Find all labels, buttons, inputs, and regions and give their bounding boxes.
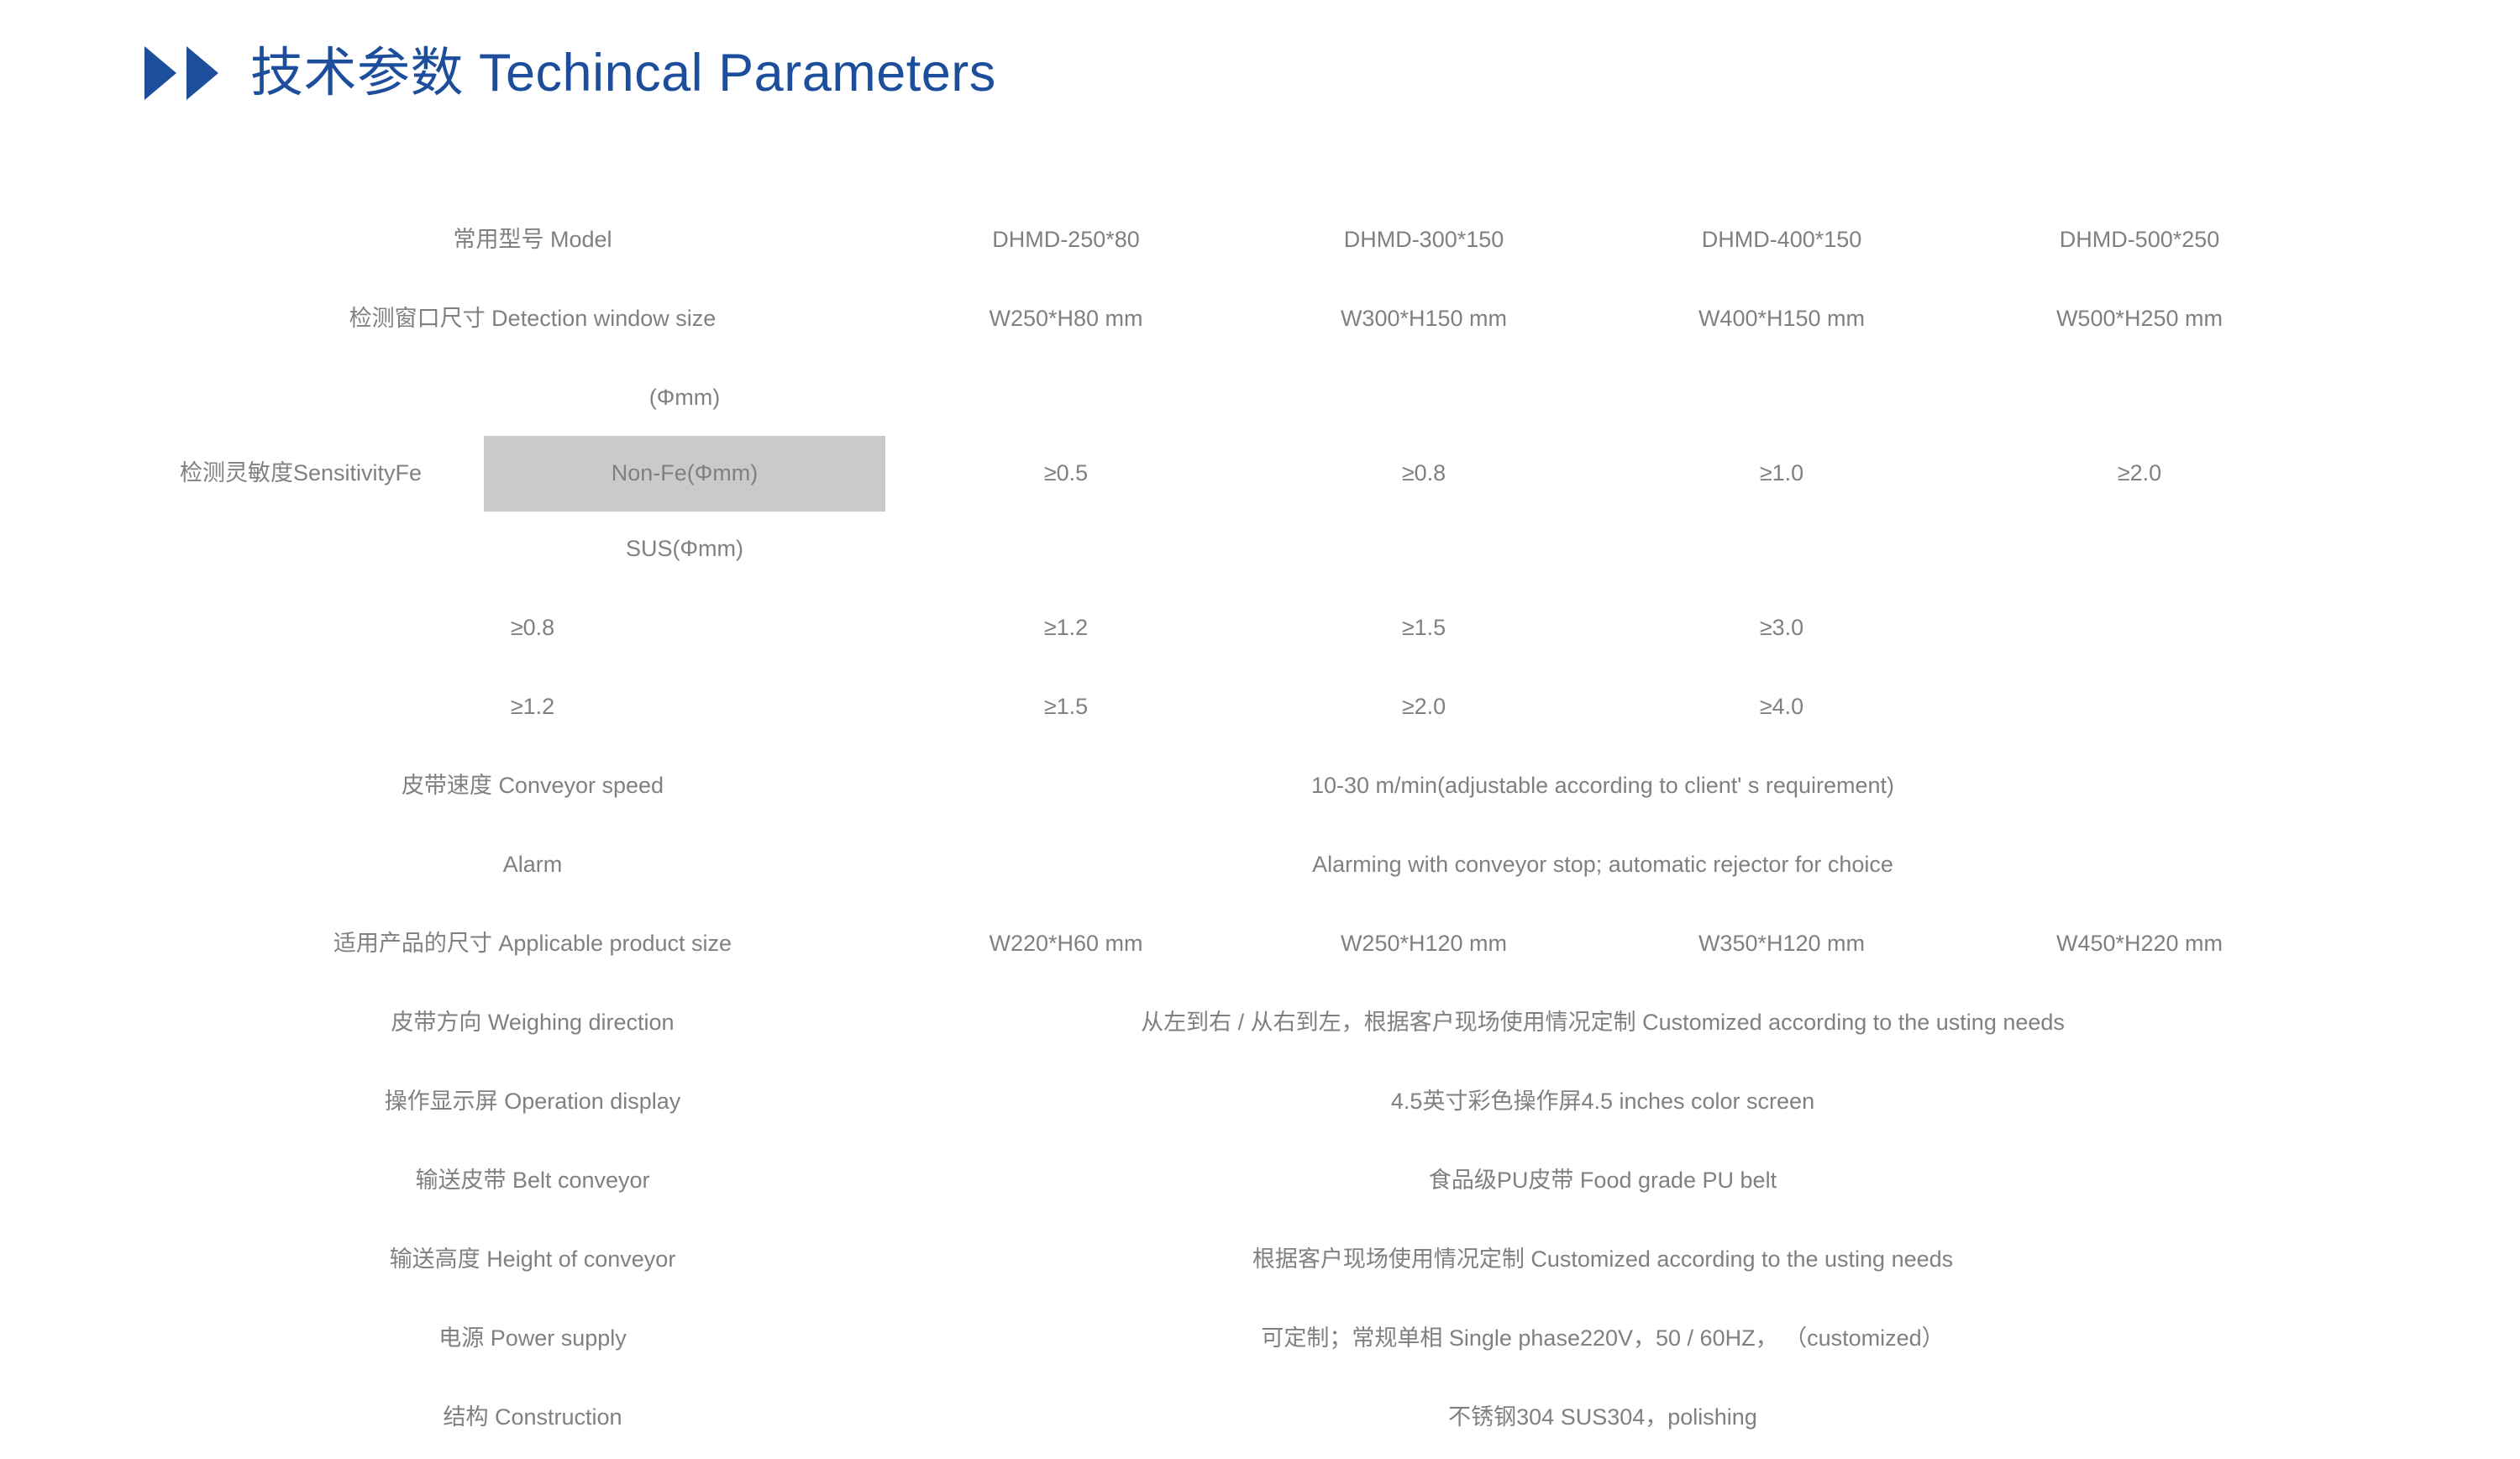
cell-detection-window-size-1: W250*H80 mm bbox=[889, 281, 1243, 357]
table-row: ≥1.2 ≥1.5 ≥2.0 ≥4.0 bbox=[180, 669, 2317, 745]
table-row: 检测灵敏度SensitivityFe (Φmm) Non-Fe(Φmm) SUS… bbox=[180, 360, 2317, 587]
table-row: 电源 Power supply 可定制；常规单相 Single phase220… bbox=[180, 1301, 2317, 1377]
table-row: 皮带方向 Weighing direction 从左到右 / 从右到左，根据客户… bbox=[180, 985, 2317, 1061]
table-row: 输送高度 Height of conveyor 根据客户现场使用情况定制 Cus… bbox=[180, 1222, 2317, 1298]
table-row: ≥0.8 ≥1.2 ≥1.5 ≥3.0 bbox=[180, 590, 2317, 666]
row-label-applicable-product-size: 适用产品的尺寸 Applicable product size bbox=[180, 906, 885, 982]
technical-parameters-table: 常用型号 Model DHMD-250*80 DHMD-300*150 DHMD… bbox=[176, 199, 2320, 1459]
table-header-row: 常用型号 Model DHMD-250*80 DHMD-300*150 DHMD… bbox=[180, 202, 2317, 278]
header-label-cell: 常用型号 Model bbox=[180, 202, 885, 278]
cell-operation-display-value: 4.5英寸彩色操作屏4.5 inches color screen bbox=[889, 1064, 2317, 1140]
cell-applicable-product-size-4: W450*H220 mm bbox=[1962, 906, 2317, 982]
cell-sensitivity-non-fe-2: ≥1.2 bbox=[889, 590, 1243, 666]
title-arrows bbox=[144, 46, 218, 100]
sensitivity-sublabel-non-fe: Non-Fe(Φmm) bbox=[484, 436, 885, 512]
row-label-power-supply: 电源 Power supply bbox=[180, 1301, 885, 1377]
cell-detection-window-size-4: W500*H250 mm bbox=[1962, 281, 2317, 357]
cell-sensitivity-sus-1: ≥1.2 bbox=[180, 669, 885, 745]
cell-sensitivity-non-fe-4: ≥3.0 bbox=[1604, 590, 1959, 666]
cell-applicable-product-size-2: W250*H120 mm bbox=[1247, 906, 1601, 982]
row-label-construction: 结构 Construction bbox=[180, 1380, 885, 1456]
header-model-2: DHMD-300*150 bbox=[1247, 202, 1601, 278]
header-model-3: DHMD-400*150 bbox=[1604, 202, 1959, 278]
cell-applicable-product-size-3: W350*H120 mm bbox=[1604, 906, 1959, 982]
cell-detection-window-size-2: W300*H150 mm bbox=[1247, 281, 1601, 357]
cell-sensitivity-sus-2: ≥1.5 bbox=[889, 669, 1243, 745]
row-label-height-of-conveyor: 输送高度 Height of conveyor bbox=[180, 1222, 885, 1298]
sensitivity-group-label: 检测灵敏度SensitivityFe bbox=[180, 360, 484, 587]
sensitivity-sublabel-sus: SUS(Φmm) bbox=[484, 512, 885, 587]
row-label-detection-window-size: 检测窗口尺寸 Detection window size bbox=[180, 281, 885, 357]
cell-sensitivity-non-fe-1: ≥0.8 bbox=[180, 590, 885, 666]
cell-height-of-conveyor-value: 根据客户现场使用情况定制 Customized according to the… bbox=[889, 1222, 2317, 1298]
table-row: 检测窗口尺寸 Detection window size W250*H80 mm… bbox=[180, 281, 2317, 357]
cell-detection-window-size-3: W400*H150 mm bbox=[1604, 281, 1959, 357]
header-model-1: DHMD-250*80 bbox=[889, 202, 1243, 278]
triangle-right-icon bbox=[186, 46, 218, 100]
triangle-right-icon bbox=[144, 46, 176, 100]
row-label-weighing-direction: 皮带方向 Weighing direction bbox=[180, 985, 885, 1061]
cell-sensitivity-non-fe-3: ≥1.5 bbox=[1247, 590, 1601, 666]
row-label-conveyor-speed: 皮带速度 Conveyor speed bbox=[180, 748, 885, 824]
cell-sensitivity-fe-4: ≥2.0 bbox=[1962, 360, 2317, 587]
row-label-belt-conveyor: 输送皮带 Belt conveyor bbox=[180, 1143, 885, 1219]
cell-sensitivity-fe-2: ≥0.8 bbox=[1247, 360, 1601, 587]
cell-applicable-product-size-1: W220*H60 mm bbox=[889, 906, 1243, 982]
row-label-alarm: Alarm bbox=[180, 827, 885, 903]
cell-sensitivity-fe-3: ≥1.0 bbox=[1604, 360, 1959, 587]
cell-alarm-value: Alarming with conveyor stop; automatic r… bbox=[889, 827, 2317, 903]
page-title: 技术参数 Techincal Parameters bbox=[250, 47, 996, 100]
sensitivity-group-cell: 检测灵敏度SensitivityFe (Φmm) Non-Fe(Φmm) SUS… bbox=[180, 360, 885, 587]
header-model-4: DHMD-500*250 bbox=[1962, 202, 2317, 278]
cell-belt-conveyor-value: 食品级PU皮带 Food grade PU belt bbox=[889, 1143, 2317, 1219]
table-row: Alarm Alarming with conveyor stop; autom… bbox=[180, 827, 2317, 903]
table-row: 结构 Construction 不锈钢304 SUS304，polishing bbox=[180, 1380, 2317, 1456]
cell-sensitivity-fe-1: ≥0.5 bbox=[889, 360, 1243, 587]
cell-weighing-direction-value: 从左到右 / 从右到左，根据客户现场使用情况定制 Customized acco… bbox=[889, 985, 2317, 1061]
cell-conveyor-speed-value: 10-30 m/min(adjustable according to clie… bbox=[889, 748, 2317, 824]
cell-sensitivity-sus-4: ≥4.0 bbox=[1604, 669, 1959, 745]
row-label-operation-display: 操作显示屏 Operation display bbox=[180, 1064, 885, 1140]
table-row: 适用产品的尺寸 Applicable product size W220*H60… bbox=[180, 906, 2317, 982]
page-title-bar: 技术参数 Techincal Parameters bbox=[144, 46, 996, 100]
cell-power-supply-value: 可定制；常规单相 Single phase220V，50 / 60HZ， （cu… bbox=[889, 1301, 2317, 1377]
cell-sensitivity-sus-3: ≥2.0 bbox=[1247, 669, 1601, 745]
cell-construction-value: 不锈钢304 SUS304，polishing bbox=[889, 1380, 2317, 1456]
table-row: 皮带速度 Conveyor speed 10-30 m/min(adjustab… bbox=[180, 748, 2317, 824]
table-row: 输送皮带 Belt conveyor 食品级PU皮带 Food grade PU… bbox=[180, 1143, 2317, 1219]
sensitivity-sublabel-fe: (Φmm) bbox=[484, 360, 885, 436]
table-row: 操作显示屏 Operation display 4.5英寸彩色操作屏4.5 in… bbox=[180, 1064, 2317, 1140]
spec-table-wrap: 常用型号 Model DHMD-250*80 DHMD-300*150 DHMD… bbox=[176, 199, 2300, 1459]
